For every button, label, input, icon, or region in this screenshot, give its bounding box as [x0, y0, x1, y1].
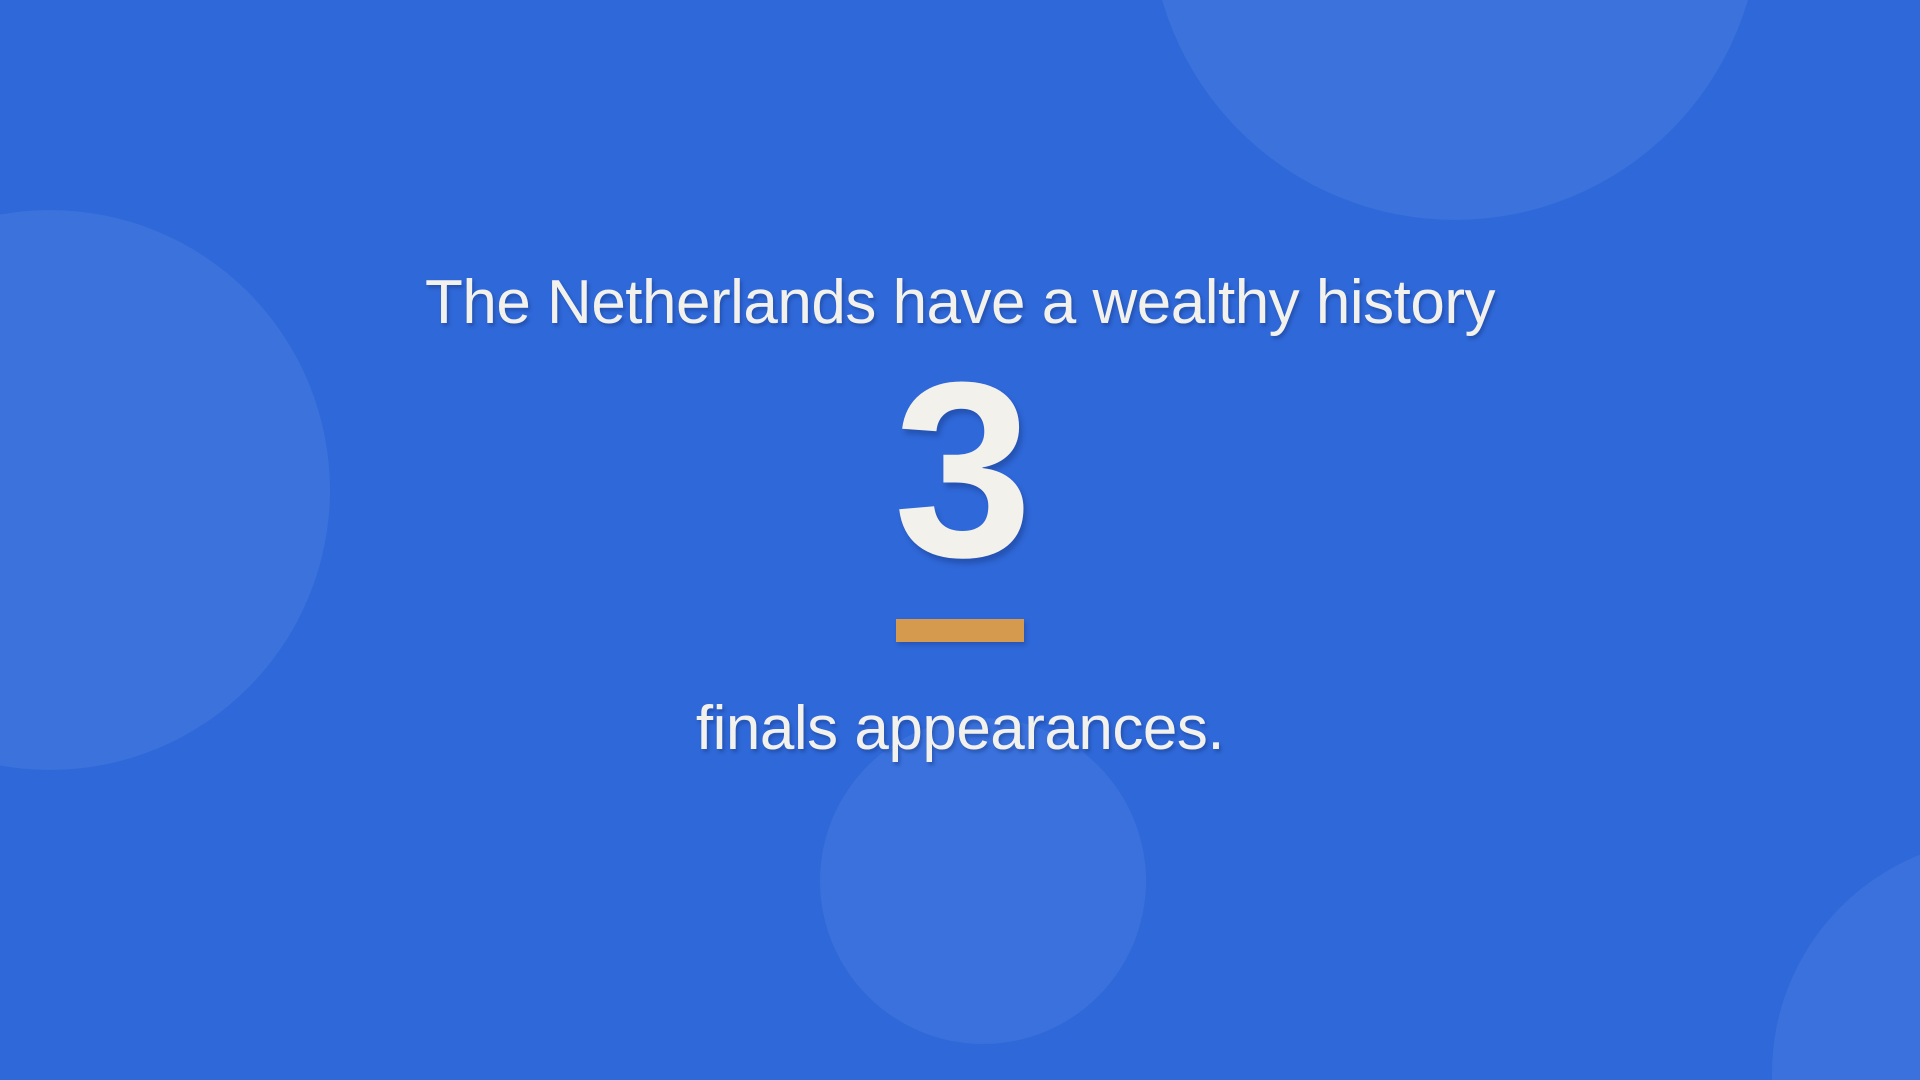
slide-content: The Netherlands have a wealthy history 3…	[0, 0, 1920, 1080]
stat-slide: The Netherlands have a wealthy history 3…	[0, 0, 1920, 1080]
accent-divider-rule	[896, 619, 1024, 642]
caption-text: finals appearances.	[696, 698, 1224, 760]
stat-value: 3	[893, 362, 1026, 577]
headline-text: The Netherlands have a wealthy history	[425, 272, 1495, 334]
